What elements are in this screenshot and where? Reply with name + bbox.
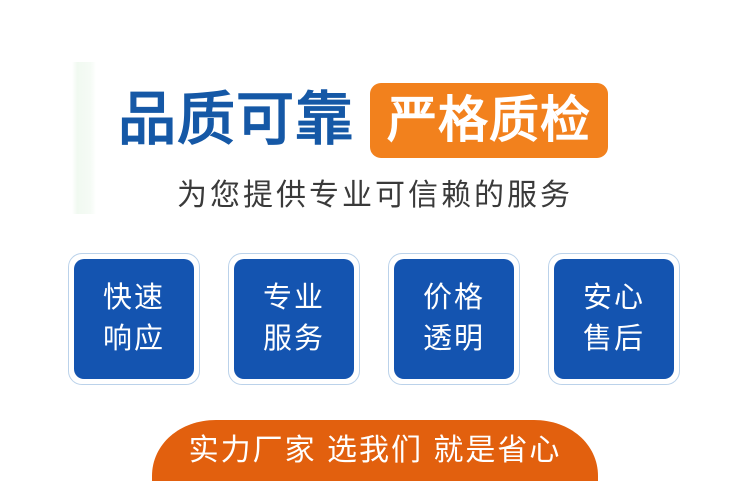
feature-box-after-sales[interactable]: 安心 售后 (548, 253, 680, 385)
feature-line-2: 响应 (103, 319, 165, 360)
headline-badge: 严格质检 (370, 83, 608, 158)
bottom-banner[interactable]: 实力厂家 选我们 就是省心 (152, 420, 598, 481)
headline-badge-text: 严格质检 (387, 95, 591, 145)
promo-banner: 品质可靠 严格质检 为您提供专业可信赖的服务 快速 响应 专业 服务 价格 透明 (0, 0, 750, 481)
feature-line-2: 透明 (423, 319, 485, 360)
headline-row: 品质可靠 严格质检 (118, 82, 608, 158)
feature-line-2: 服务 (263, 319, 325, 360)
feature-box-transparent-pricing[interactable]: 价格 透明 (388, 253, 520, 385)
headline-main-text: 品质可靠 (118, 91, 354, 149)
feature-box-inner: 专业 服务 (234, 259, 354, 379)
feature-box-fast-response[interactable]: 快速 响应 (68, 253, 200, 385)
bottom-banner-text: 实力厂家 选我们 就是省心 (152, 431, 598, 470)
feature-box-inner: 价格 透明 (394, 259, 514, 379)
feature-line-2: 售后 (583, 319, 645, 360)
feature-box-list: 快速 响应 专业 服务 价格 透明 安心 售后 (68, 253, 680, 385)
subtitle-text: 为您提供专业可信赖的服务 (0, 176, 750, 215)
feature-box-professional-service[interactable]: 专业 服务 (228, 253, 360, 385)
feature-box-inner: 快速 响应 (74, 259, 194, 379)
feature-line-1: 快速 (103, 278, 165, 319)
feature-line-1: 专业 (263, 278, 325, 319)
feature-line-1: 价格 (423, 278, 485, 319)
feature-line-1: 安心 (583, 278, 645, 319)
feature-box-inner: 安心 售后 (554, 259, 674, 379)
